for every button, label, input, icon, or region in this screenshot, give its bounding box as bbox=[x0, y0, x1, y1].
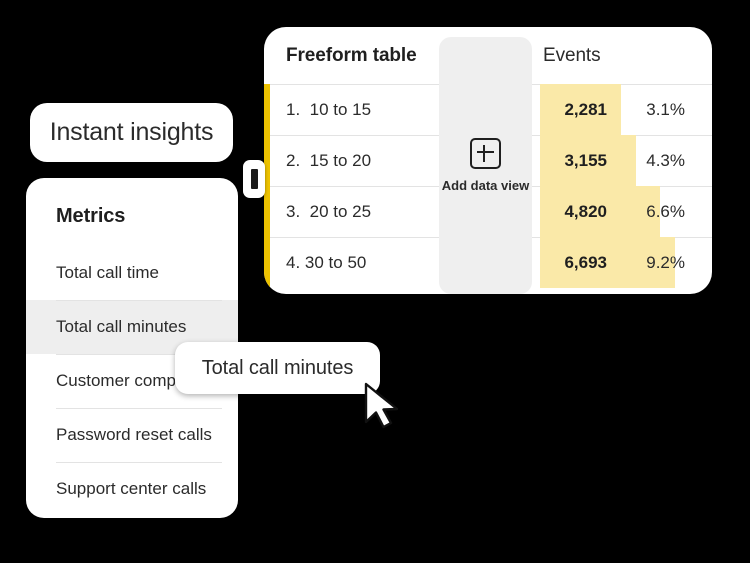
row-label: 1. 10 to 15 bbox=[286, 100, 371, 120]
plus-square-icon bbox=[470, 138, 501, 169]
list-separator bbox=[56, 300, 222, 301]
mouse-pointer-icon bbox=[363, 382, 407, 430]
row-label: 3. 20 to 25 bbox=[286, 202, 371, 222]
row-value: 6,693 bbox=[564, 253, 607, 273]
list-separator bbox=[56, 462, 222, 463]
tooltip-text: Total call minutes bbox=[202, 357, 354, 380]
row-percent: 9.2% bbox=[646, 253, 685, 273]
row-value: 4,820 bbox=[564, 202, 607, 222]
metric-label: Customer comp bbox=[56, 371, 176, 391]
screenshot-root: Instant insights Metrics Total call time… bbox=[0, 0, 750, 563]
row-dimension: 30 to 50 bbox=[305, 253, 366, 272]
freeform-table-title: Freeform table bbox=[286, 45, 417, 67]
add-data-view-button[interactable]: Add data view bbox=[439, 37, 532, 294]
instant-insights-label: Instant insights bbox=[50, 118, 214, 147]
row-rank: 2. bbox=[286, 151, 300, 170]
drag-handle-icon[interactable] bbox=[243, 160, 265, 198]
row-label: 4. 30 to 50 bbox=[286, 253, 366, 273]
metric-label: Total call minutes bbox=[56, 317, 186, 337]
list-item[interactable]: Password reset calls bbox=[26, 408, 238, 462]
row-dimension: 15 to 20 bbox=[310, 151, 371, 170]
row-rank: 4. bbox=[286, 253, 300, 272]
row-dimension: 20 to 25 bbox=[310, 202, 371, 221]
list-item[interactable]: Total call time bbox=[26, 246, 238, 300]
add-data-view-label: Add data view bbox=[442, 178, 529, 193]
row-percent: 3.1% bbox=[646, 100, 685, 120]
row-rank: 3. bbox=[286, 202, 300, 221]
row-label: 2. 15 to 20 bbox=[286, 151, 371, 171]
row-percent: 4.3% bbox=[646, 151, 685, 171]
row-percent: 6.6% bbox=[646, 202, 685, 222]
row-rank: 1. bbox=[286, 100, 300, 119]
metric-label: Password reset calls bbox=[56, 425, 212, 445]
metrics-panel-title: Metrics bbox=[56, 205, 125, 228]
row-value: 2,281 bbox=[564, 100, 607, 120]
instant-insights-pill[interactable]: Instant insights bbox=[30, 103, 233, 162]
metric-label: Support center calls bbox=[56, 479, 206, 499]
events-column-header: Events bbox=[543, 45, 601, 67]
tooltip: Total call minutes bbox=[175, 342, 380, 394]
metric-label: Total call time bbox=[56, 263, 159, 283]
drag-handle-bar bbox=[251, 169, 258, 189]
row-value: 3,155 bbox=[564, 151, 607, 171]
list-item[interactable]: Support center calls bbox=[26, 462, 238, 516]
list-separator bbox=[56, 408, 222, 409]
row-dimension: 10 to 15 bbox=[310, 100, 371, 119]
